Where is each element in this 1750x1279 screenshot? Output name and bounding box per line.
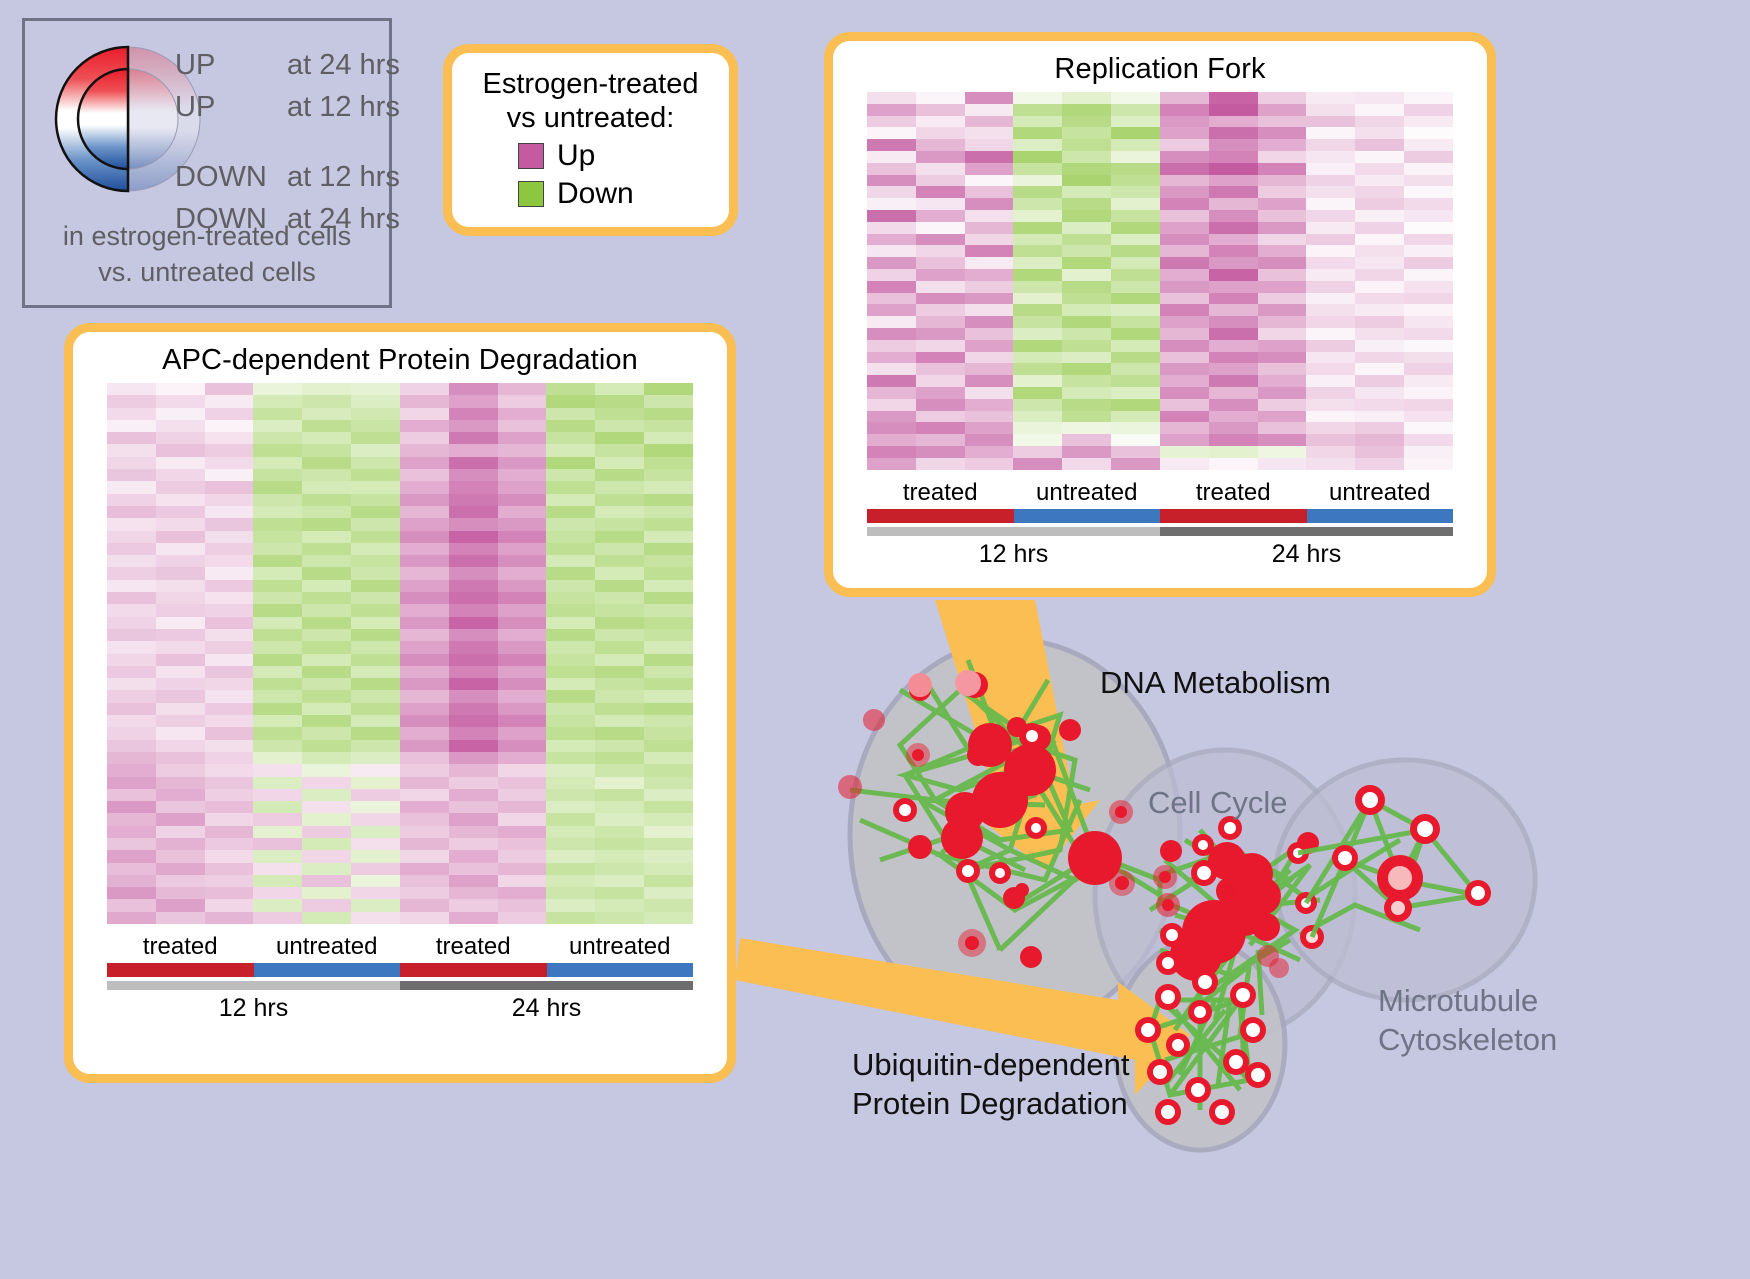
heatmap-cell — [156, 727, 205, 739]
heatmap-cell — [302, 789, 351, 801]
heatmap-cell — [1258, 151, 1307, 163]
heatmap-cell — [253, 604, 302, 616]
heatmap-cell — [156, 531, 205, 543]
heatmap-cell — [1160, 210, 1209, 222]
heatmap-cell — [1306, 352, 1355, 364]
heatmap-cell — [1355, 245, 1404, 257]
heatmap-cell — [1111, 387, 1160, 399]
heatmap-cell — [1160, 316, 1209, 328]
heatmap-cell — [546, 777, 595, 789]
heatmap-cell — [595, 383, 644, 395]
estrogen-legend-card: Estrogen-treated vs untreated: Up Down — [443, 44, 738, 236]
nodes-microtubule — [1332, 785, 1491, 922]
heatmap-cell — [595, 420, 644, 432]
heatmap-cell — [400, 518, 449, 530]
heatmap-cell — [1013, 340, 1062, 352]
heatmap-cell — [449, 813, 498, 825]
heatmap-cell — [916, 198, 965, 210]
heatmap-cell — [1062, 234, 1111, 246]
edges-microtubule — [1298, 800, 1478, 937]
heatmap-cell — [400, 420, 449, 432]
heatmap-cell — [965, 245, 1014, 257]
heatmap-group-label: untreated — [547, 933, 694, 961]
heatmap-cell — [644, 617, 693, 629]
heatmap-cell — [644, 641, 693, 653]
heatmap-group-label: untreated — [1307, 479, 1454, 507]
heatmap-cell — [302, 518, 351, 530]
heatmap-cell — [595, 740, 644, 752]
heatmap-cell — [156, 444, 205, 456]
heatmap-cell — [1160, 104, 1209, 116]
heatmap-cell — [302, 555, 351, 567]
heatmap-cell — [867, 257, 916, 269]
heatmap-cell — [867, 399, 916, 411]
heatmap-cell — [302, 383, 351, 395]
heatmap-cell — [1258, 210, 1307, 222]
heatmap-cell — [205, 912, 254, 924]
heatmap-cell — [449, 383, 498, 395]
heatmap-cell — [205, 727, 254, 739]
heatmap-cell — [916, 210, 965, 222]
heatmap-cell — [644, 666, 693, 678]
heatmap-cell — [867, 434, 916, 446]
heatmap-cell — [449, 789, 498, 801]
heatmap-cell — [253, 666, 302, 678]
heatmap-cell — [449, 850, 498, 862]
heatmap-cell — [107, 752, 156, 764]
heatmap-cell — [400, 617, 449, 629]
heatmap-cell — [205, 863, 254, 875]
heatmap-cell — [351, 838, 400, 850]
heatmap-cell — [1013, 257, 1062, 269]
heatmap-cell — [1013, 116, 1062, 128]
treatment-bar-segment — [254, 963, 401, 977]
heatmap-cell — [253, 592, 302, 604]
heatmap-cell — [1111, 234, 1160, 246]
heatmap-cell — [1355, 222, 1404, 234]
heatmap-group-label: treated — [867, 479, 1014, 507]
heatmap-cell — [253, 678, 302, 690]
heatmap-cell — [1111, 458, 1160, 470]
heatmap-cell — [253, 617, 302, 629]
heatmap-cell — [1209, 127, 1258, 139]
heatmap-cell — [1404, 163, 1453, 175]
apc-group-labels: treateduntreatedtreateduntreated — [107, 933, 693, 961]
heatmap-cell — [302, 715, 351, 727]
heatmap-cell — [1355, 411, 1404, 423]
heatmap-cell — [1111, 352, 1160, 364]
heatmap-cell — [107, 641, 156, 653]
heatmap-cell — [965, 281, 1014, 293]
heatmap-cell — [107, 420, 156, 432]
heatmap-cell — [546, 444, 595, 456]
nodes-dna-metabolism-ringed — [838, 670, 1135, 957]
heatmap-cell — [1013, 92, 1062, 104]
heatmap-cell — [1355, 210, 1404, 222]
heatmap-cell — [156, 432, 205, 444]
heatmap-cell — [1062, 446, 1111, 458]
heatmap-cell — [107, 740, 156, 752]
heatmap-cell — [253, 887, 302, 899]
heatmap-cell — [400, 469, 449, 481]
heatmap-cell — [867, 104, 916, 116]
heatmap-cell — [546, 887, 595, 899]
heatmap-cell — [1209, 363, 1258, 375]
legend-title-line2: vs untreated: — [507, 101, 675, 135]
heatmap-cell — [644, 506, 693, 518]
legend-swatch-up-icon — [518, 143, 544, 169]
heatmap-cell — [1258, 92, 1307, 104]
heatmap-cell — [205, 666, 254, 678]
heatmap-cell — [1355, 340, 1404, 352]
heatmap-cell — [156, 641, 205, 653]
heatmap-cell — [1160, 293, 1209, 305]
heatmap-cell — [205, 494, 254, 506]
heatmap-cell — [1306, 139, 1355, 151]
key-label-up-24: UP — [175, 49, 287, 82]
heatmap-cell — [107, 494, 156, 506]
heatmap-cell — [351, 457, 400, 469]
heatmap-cell — [253, 875, 302, 887]
heatmap-cell — [1209, 328, 1258, 340]
heatmap-cell — [867, 352, 916, 364]
heatmap-cell — [351, 813, 400, 825]
heatmap-cell — [1355, 198, 1404, 210]
heatmap-cell — [400, 727, 449, 739]
heatmap-cell — [107, 617, 156, 629]
heatmap-cell — [498, 850, 547, 862]
heatmap-cell — [205, 654, 254, 666]
heatmap-cell — [867, 175, 916, 187]
heatmap-cell — [595, 912, 644, 924]
heatmap-cell — [498, 899, 547, 911]
heatmap-cell — [205, 764, 254, 776]
heatmap-cell — [546, 506, 595, 518]
heatmap-cell — [400, 826, 449, 838]
heatmap-cell — [1355, 151, 1404, 163]
cluster-label-microtubule-line1: Microtubule — [1378, 982, 1557, 1021]
heatmap-cell — [595, 518, 644, 530]
heatmap-cell — [107, 469, 156, 481]
heatmap-cell — [302, 641, 351, 653]
heatmap-cell — [1306, 458, 1355, 470]
heatmap-cell — [644, 580, 693, 592]
heatmap-cell — [351, 604, 400, 616]
heatmap-cell — [107, 543, 156, 555]
heatmap-cell — [1062, 127, 1111, 139]
heatmap-cell — [351, 408, 400, 420]
heatmap-cell — [644, 678, 693, 690]
heatmap-cell — [1355, 175, 1404, 187]
heatmap-cell — [205, 408, 254, 420]
heatmap-cell — [498, 617, 547, 629]
heatmap-cell — [644, 567, 693, 579]
heatmap-cell — [107, 580, 156, 592]
heatmap-cell — [302, 863, 351, 875]
heatmap-cell — [302, 752, 351, 764]
heatmap-cell — [205, 469, 254, 481]
heatmap-cell — [107, 690, 156, 702]
heatmap-cell — [595, 481, 644, 493]
heatmap-cell — [400, 850, 449, 862]
heatmap-cell — [1355, 269, 1404, 281]
nodes-ubiquitin — [1135, 969, 1271, 1125]
heatmap-cell — [1355, 104, 1404, 116]
heatmap-cell — [1355, 304, 1404, 316]
heatmap-cell — [1062, 269, 1111, 281]
heatmap-cell — [1258, 281, 1307, 293]
heatmap-cell — [1013, 163, 1062, 175]
heatmap-cell — [107, 801, 156, 813]
replication-fork-time-bar — [867, 527, 1453, 536]
heatmap-cell — [1306, 163, 1355, 175]
heatmap-cell — [156, 481, 205, 493]
heatmap-cell — [400, 383, 449, 395]
heatmap-cell — [302, 432, 351, 444]
heatmap-cell — [205, 567, 254, 579]
heatmap-cell — [400, 715, 449, 727]
heatmap-cell — [107, 678, 156, 690]
heatmap-cell — [449, 592, 498, 604]
heatmap-cell — [1209, 387, 1258, 399]
heatmap-cell — [449, 481, 498, 493]
heatmap-cell — [1404, 104, 1453, 116]
heatmap-group-label: treated — [400, 933, 547, 961]
heatmap-cell — [400, 457, 449, 469]
heatmap-cell — [1306, 422, 1355, 434]
heatmap-cell — [1209, 422, 1258, 434]
heatmap-cell — [1404, 198, 1453, 210]
heatmap-cell — [1258, 340, 1307, 352]
heatmap-cell — [1355, 116, 1404, 128]
heatmap-cell — [107, 850, 156, 862]
heatmap-cell — [253, 863, 302, 875]
heatmap-cell — [449, 641, 498, 653]
heatmap-cell — [867, 446, 916, 458]
heatmap-cell — [1404, 116, 1453, 128]
heatmap-cell — [302, 654, 351, 666]
heatmap-cell — [1404, 210, 1453, 222]
heatmap-cell — [302, 604, 351, 616]
heatmap-cell — [1111, 139, 1160, 151]
heatmap-cell — [595, 703, 644, 715]
heatmap-cell — [156, 420, 205, 432]
heatmap-cell — [156, 838, 205, 850]
key-footer-line1: in estrogen-treated cells — [25, 219, 389, 255]
heatmap-cell — [253, 555, 302, 567]
heatmap-cell — [498, 432, 547, 444]
heatmap-group-label: treated — [107, 933, 254, 961]
heatmap-cell — [595, 592, 644, 604]
heatmap-cell — [205, 592, 254, 604]
legend-label-up: Up — [557, 139, 595, 173]
heatmap-cell — [400, 777, 449, 789]
heatmap-cell — [205, 838, 254, 850]
heatmap-cell — [156, 789, 205, 801]
heatmap-cell — [1306, 411, 1355, 423]
heatmap-cell — [1258, 186, 1307, 198]
heatmap-cell — [546, 715, 595, 727]
heatmap-cell — [107, 567, 156, 579]
heatmap-cell — [1404, 127, 1453, 139]
heatmap-cell — [400, 543, 449, 555]
heatmap-cell — [546, 678, 595, 690]
heatmap-cell — [1209, 293, 1258, 305]
heatmap-cell — [498, 481, 547, 493]
heatmap-cell — [546, 666, 595, 678]
heatmap-cell — [351, 912, 400, 924]
heatmap-cell — [1258, 198, 1307, 210]
heatmap-cell — [498, 604, 547, 616]
heatmap-cell — [156, 899, 205, 911]
heatmap-cell — [400, 813, 449, 825]
heatmap-cell — [1404, 175, 1453, 187]
heatmap-cell — [351, 580, 400, 592]
heatmap-cell — [302, 678, 351, 690]
connector-arrow-replication-fork — [935, 600, 1100, 870]
heatmap-cell — [1062, 257, 1111, 269]
heatmap-cell — [1355, 352, 1404, 364]
heatmap-cell — [1209, 198, 1258, 210]
heatmap-cell — [156, 666, 205, 678]
heatmap-cell — [351, 531, 400, 543]
heatmap-cell — [1160, 186, 1209, 198]
heatmap-cell — [1258, 316, 1307, 328]
cluster-label-ubiquitin-line1: Ubiquitin-dependent — [852, 1046, 1130, 1085]
heatmap-cell — [1013, 104, 1062, 116]
heatmap-cell — [449, 555, 498, 567]
heatmap-cell — [400, 863, 449, 875]
heatmap-cell — [253, 531, 302, 543]
heatmap-cell — [156, 654, 205, 666]
heatmap-cell — [916, 281, 965, 293]
heatmap-cell — [595, 801, 644, 813]
heatmap-cell — [1013, 281, 1062, 293]
heatmap-cell — [1160, 434, 1209, 446]
heatmap-cell — [156, 703, 205, 715]
heatmap-cell — [351, 654, 400, 666]
heatmap-cell — [867, 458, 916, 470]
heatmap-cell — [1355, 328, 1404, 340]
heatmap-cell — [916, 363, 965, 375]
heatmap-cell — [1013, 399, 1062, 411]
heatmap-cell — [644, 383, 693, 395]
heatmap-cell — [253, 408, 302, 420]
heatmap-cell — [1404, 422, 1453, 434]
heatmap-cell — [1062, 411, 1111, 423]
heatmap-cell — [449, 740, 498, 752]
heatmap-cell — [1013, 198, 1062, 210]
heatmap-cell — [498, 875, 547, 887]
heatmap-cell — [351, 727, 400, 739]
heatmap-cell — [253, 777, 302, 789]
heatmap-cell — [449, 617, 498, 629]
heatmap-cell — [644, 838, 693, 850]
heatmap-cell — [205, 629, 254, 641]
heatmap-cell — [965, 186, 1014, 198]
heatmap-cell — [253, 383, 302, 395]
key-row-up-24: UPat 24 hrs — [175, 49, 400, 82]
heatmap-cell — [916, 293, 965, 305]
heatmap-cell — [107, 912, 156, 924]
heatmap-cell — [156, 764, 205, 776]
heatmap-cell — [1111, 257, 1160, 269]
heatmap-cell — [205, 826, 254, 838]
heatmap-cell — [1355, 281, 1404, 293]
heatmap-cell — [156, 777, 205, 789]
heatmap-cell — [916, 458, 965, 470]
heatmap-cell — [156, 678, 205, 690]
heatmap-cell — [156, 567, 205, 579]
heatmap-cell — [351, 789, 400, 801]
heatmap-cell — [449, 567, 498, 579]
replication-fork-group-labels: treateduntreatedtreateduntreated — [867, 479, 1453, 507]
heatmap-cell — [1013, 434, 1062, 446]
heatmap-cell — [1160, 375, 1209, 387]
heatmap-cell — [351, 469, 400, 481]
heatmap-cell — [1160, 328, 1209, 340]
heatmap-cell — [546, 727, 595, 739]
heatmap-cell — [302, 801, 351, 813]
heatmap-cell — [1013, 352, 1062, 364]
heatmap-cell — [302, 826, 351, 838]
heatmap-cell — [916, 151, 965, 163]
heatmap-cell — [1355, 387, 1404, 399]
heatmap-cell — [1062, 304, 1111, 316]
heatmap-cell — [156, 518, 205, 530]
heatmap-cell — [449, 727, 498, 739]
heatmap-cell — [156, 690, 205, 702]
heatmap-cell — [1111, 210, 1160, 222]
heatmap-cell — [156, 555, 205, 567]
heatmap-cell — [1062, 293, 1111, 305]
heatmap-cell — [1306, 257, 1355, 269]
heatmap-cell — [498, 666, 547, 678]
heatmap-cell — [205, 457, 254, 469]
heatmap-cell — [205, 690, 254, 702]
time-label: 12 hrs — [867, 540, 1160, 569]
heatmap-cell — [595, 666, 644, 678]
heatmap-cell — [1062, 387, 1111, 399]
heatmap-cell — [644, 740, 693, 752]
heatmap-cell — [644, 543, 693, 555]
heatmap-cell — [107, 666, 156, 678]
heatmap-cell — [1160, 411, 1209, 423]
heatmap-cell — [400, 666, 449, 678]
heatmap-cell — [205, 850, 254, 862]
heatmap-cell — [498, 801, 547, 813]
heatmap-cell — [156, 506, 205, 518]
heatmap-cell — [400, 875, 449, 887]
heatmap-cell — [595, 764, 644, 776]
heatmap-cell — [449, 580, 498, 592]
heatmap-cell — [644, 457, 693, 469]
heatmap-cell — [1306, 363, 1355, 375]
heatmap-cell — [546, 690, 595, 702]
heatmap-cell — [400, 789, 449, 801]
heatmap-cell — [156, 543, 205, 555]
heatmap-cell — [351, 740, 400, 752]
heatmap-cell — [400, 801, 449, 813]
heatmap-cell — [205, 444, 254, 456]
heatmap-cell — [1062, 316, 1111, 328]
heatmap-cell — [351, 887, 400, 899]
heatmap-cell — [1404, 304, 1453, 316]
heatmap-cell — [351, 875, 400, 887]
heatmap-cell — [546, 629, 595, 641]
heatmap-cell — [107, 715, 156, 727]
heatmap-cell — [867, 316, 916, 328]
